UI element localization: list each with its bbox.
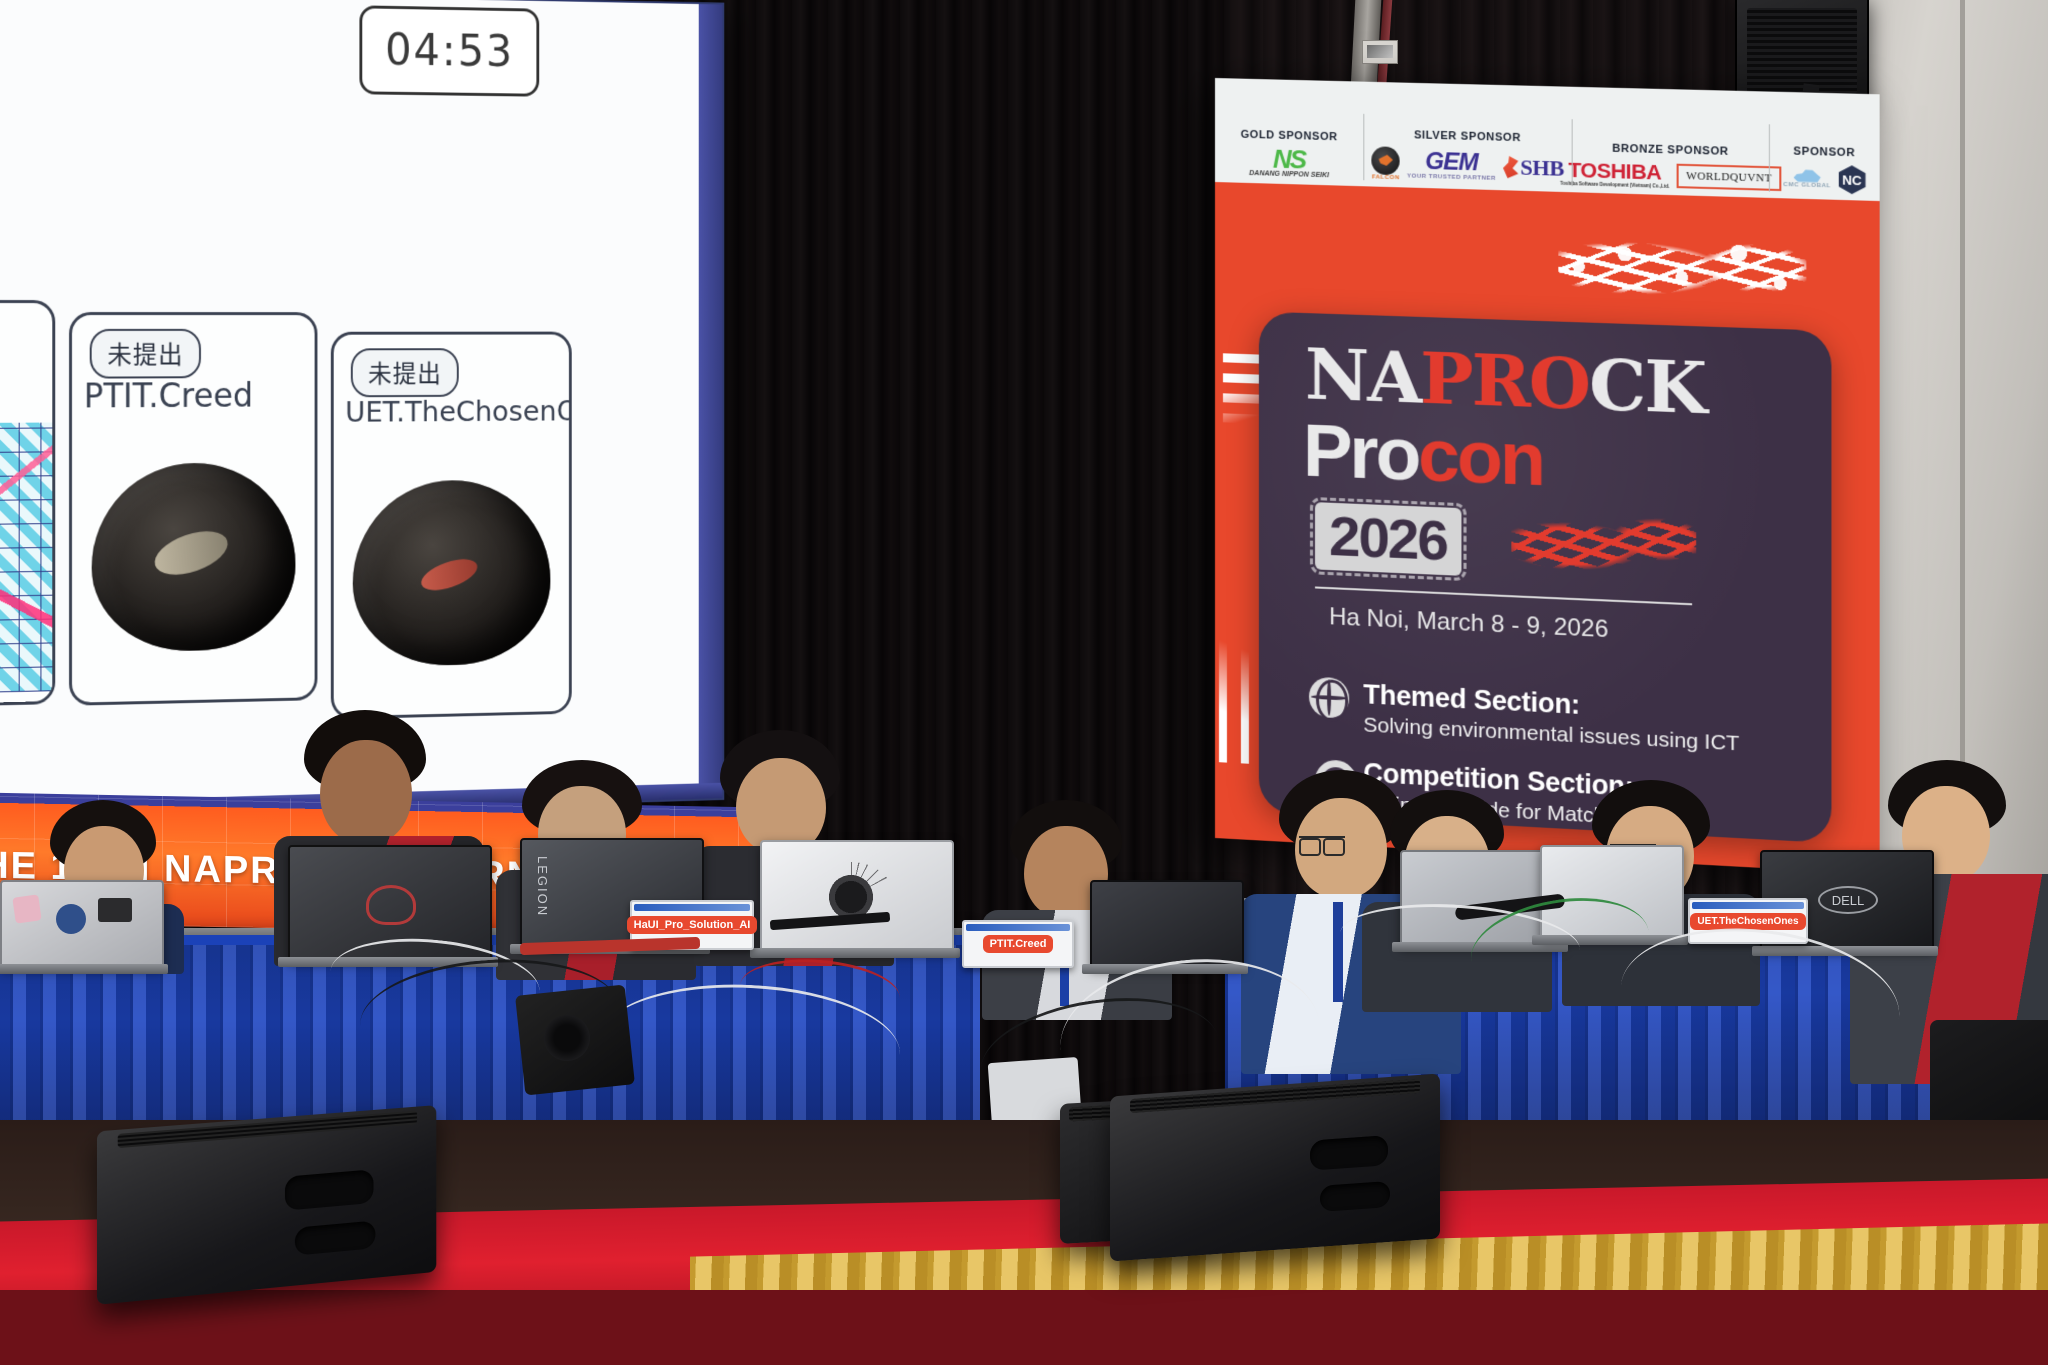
pixel-dragon-outline-icon (1558, 226, 1806, 313)
team-placard: PTIT.Creed (962, 920, 1074, 968)
emergency-sign (1362, 40, 1398, 64)
stage-front-edge (0, 1290, 2048, 1365)
grid-puzzle-visual (0, 423, 52, 696)
laptop-brand-text: LEGION (536, 856, 550, 926)
laptop-sticker (98, 898, 132, 922)
submission-card: 未提出 UET.TheChosenOnes (331, 332, 572, 720)
submission-card (0, 300, 55, 709)
floor-monitor-speaker (1110, 1073, 1440, 1261)
speaker-grille (1747, 8, 1857, 94)
laptop-sticker (56, 904, 86, 934)
logo-shb: SHB (1503, 154, 1564, 182)
speaker-handle (1310, 1135, 1388, 1170)
logo-worldquant: WORLDQUVNT (1677, 164, 1782, 191)
logo-mark: TOSHIBA (1568, 160, 1661, 184)
eyeglasses (1299, 836, 1345, 853)
logo-mark: FALCON (1372, 174, 1400, 181)
logo-subtext: DANANG NIPPON SEIKI (1249, 170, 1329, 179)
timer-value: 04:53 (385, 25, 514, 77)
poster-title-line2: Procon (1303, 413, 1543, 497)
cloud-icon (1794, 168, 1821, 182)
placard-header-bar (634, 904, 750, 911)
logo-mark: SHB (1520, 154, 1563, 182)
status-badge: 未提出 (90, 329, 201, 379)
shb-flame-icon (1503, 156, 1518, 179)
submission-card-list: 未提出 PTIT.Creed 未提出 UET.TheChosenOnes (0, 290, 658, 710)
logo-mark: GEM (1425, 150, 1477, 176)
globe-icon (1309, 677, 1349, 719)
team-placard-label: HaUI_Pro_Solution_AI (627, 916, 758, 934)
floor-monitor-speaker (97, 1105, 436, 1305)
sponsor-tier-label: BRONZE SPONSOR (1612, 143, 1729, 158)
globe-ring (1316, 679, 1348, 723)
naprock-poster-board: GOLD SPONSOR NS DANANG NIPPON SEIKI SILV… (1215, 78, 1880, 874)
contest-timer: 04:53 (359, 5, 539, 96)
sponsor-tier-label: SPONSOR (1793, 145, 1855, 159)
logo-mark: WORLDQUVNT (1686, 170, 1772, 185)
camera-lens (544, 1015, 590, 1061)
shell-photo (92, 462, 296, 652)
sponsor-tier-label: SILVER SPONSOR (1414, 129, 1521, 144)
logo-nc-hexagon: NC (1838, 165, 1865, 194)
team-name: UET.TheChosenOnes (345, 394, 572, 429)
title-pro2: Pro (1303, 408, 1418, 496)
title-con: con (1418, 413, 1543, 502)
logo-danang-nippon-seiki: NS DANANG NIPPON SEIKI (1249, 147, 1329, 180)
team-placard-label: PTIT.Creed (983, 935, 1054, 953)
laptop-base (0, 964, 168, 974)
sponsor-group-sponsor: SPONSOR CMC GLOBAL NC (1769, 92, 1879, 206)
pixel-dragon-red-icon (1511, 500, 1696, 587)
title-pro: PRO (1420, 336, 1589, 426)
laptop-lid (1090, 880, 1244, 968)
placard-header-bar (966, 924, 1070, 931)
status-badge: 未提出 (351, 348, 459, 397)
team-name: PTIT.Creed (84, 376, 253, 415)
laptop-base (750, 948, 960, 958)
logo-toshiba: TOSHIBA Toshiba Software Development (Vi… (1560, 159, 1669, 188)
speaker-handle (1320, 1181, 1390, 1212)
sponsor-group-bronze: BRONZE SPONSOR TOSHIBA Toshiba Software … (1572, 87, 1769, 202)
logo-subtext: CMC GLOBAL (1783, 181, 1831, 188)
lanyard (1333, 902, 1343, 1002)
logo-subtext: YOUR TRUSTED PARTNER (1407, 173, 1496, 182)
speaker-handle (285, 1169, 374, 1210)
team-placard-label: UET.TheChosenOnes (1690, 913, 1805, 930)
dell-logo-icon: DELL (1818, 886, 1878, 914)
logo-gem: GEM YOUR TRUSTED PARTNER (1407, 149, 1496, 182)
sponsor-tier-label: GOLD SPONSOR (1241, 128, 1338, 143)
title-na: NA (1305, 332, 1420, 420)
face (320, 740, 412, 844)
sponsor-group-gold: GOLD SPONSOR NS DANANG NIPPON SEIKI (1215, 78, 1364, 190)
rog-logo-icon (366, 885, 416, 925)
shell-photo (353, 479, 551, 667)
poster-inner-panel: NAPROCK Procon 2026 Ha Noi, March 8 - 9,… (1259, 311, 1832, 843)
screen-border-right (699, 4, 723, 799)
laptop-sticker (12, 894, 41, 923)
sponsor-group-silver: SILVER SPONSOR FALCON GEM YOUR TRUSTED P… (1364, 82, 1572, 197)
stage-photo: 04:53 未提出 PTIT.Creed 未提出 UET.TheChosenOn… (0, 0, 2048, 1365)
logo-mark: NS (1273, 147, 1305, 171)
speaker-handle (295, 1220, 376, 1255)
poster-year: 2026 (1315, 502, 1461, 575)
logo-cmc-global: CMC GLOBAL (1783, 168, 1831, 189)
placard-header-bar (1692, 902, 1804, 909)
projection-screen: 04:53 未提出 PTIT.Creed 未提出 UET.TheChosenOn… (0, 0, 722, 820)
submission-card: 未提出 PTIT.Creed (69, 312, 317, 706)
title-ck: CK (1589, 342, 1705, 431)
logo-falcon: FALCON (1372, 146, 1400, 181)
shell-highlight (149, 523, 232, 583)
shell-highlight (418, 553, 481, 596)
falcon-bird-icon (1372, 146, 1400, 175)
